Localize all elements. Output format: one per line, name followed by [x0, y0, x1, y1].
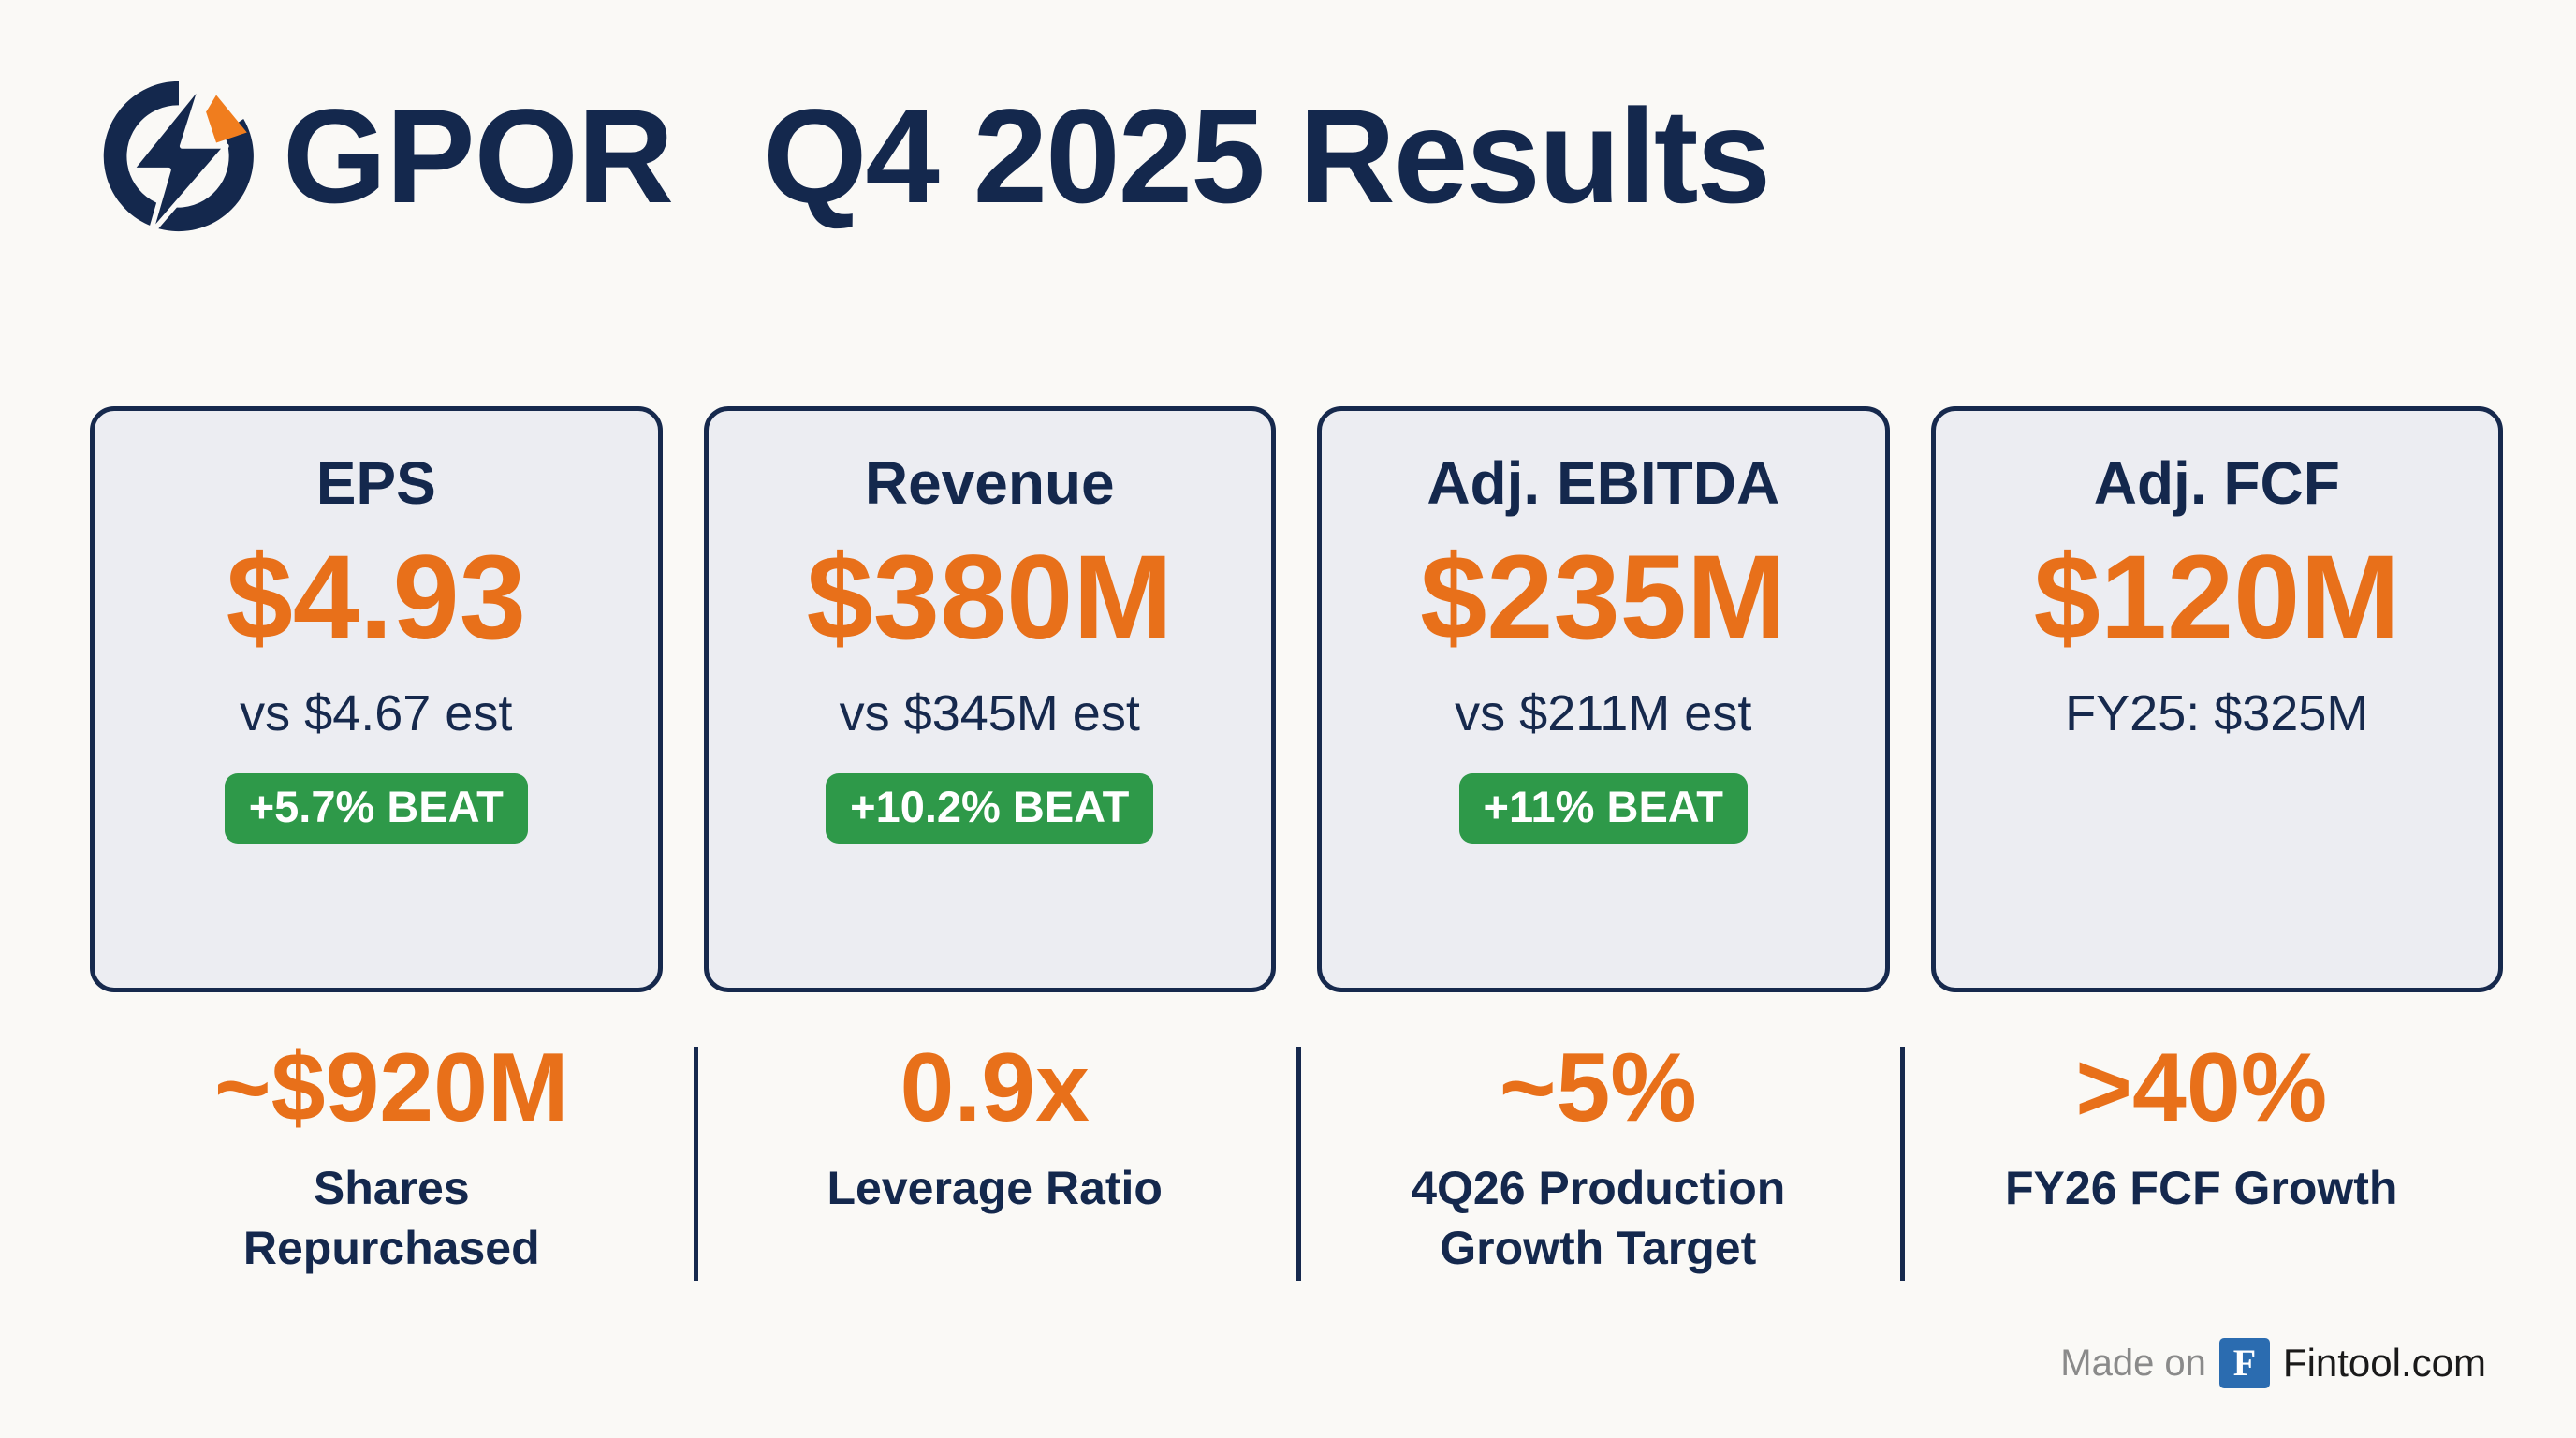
metric-card-revenue: Revenue $380M vs $345M est +10.2% BEAT — [704, 406, 1277, 992]
stat-leverage-ratio: 0.9x Leverage Ratio — [694, 1037, 1297, 1278]
stat-label-line1: FY26 FCF Growth — [2005, 1162, 2397, 1214]
metric-card-title: Adj. EBITDA — [1427, 452, 1779, 515]
footer-made-on-text: Made on — [2060, 1344, 2206, 1382]
metric-card-title: Revenue — [865, 452, 1115, 515]
metric-card-value: $120M — [2034, 536, 2400, 661]
stat-label: Leverage Ratio — [827, 1158, 1163, 1218]
stat-fcf-growth: >40% FY26 FCF Growth — [1900, 1037, 2504, 1278]
stat-shares-repurchased: ~$920M Shares Repurchased — [90, 1037, 694, 1278]
metric-card-adj-fcf: Adj. FCF $120M FY25: $325M — [1931, 406, 2504, 992]
stat-label-line1: 4Q26 Production — [1411, 1162, 1785, 1214]
infographic-canvas: GPOR Q4 2025 Results EPS $4.93 vs $4.67 … — [0, 0, 2576, 1438]
beat-badge: +10.2% BEAT — [826, 773, 1153, 844]
beat-badge: +11% BEAT — [1459, 773, 1748, 844]
stat-label-line2: Growth Target — [1440, 1222, 1756, 1274]
stat-value: >40% — [2075, 1037, 2327, 1139]
metric-card-title: EPS — [316, 452, 436, 515]
stat-label: 4Q26 Production Growth Target — [1411, 1158, 1785, 1278]
metric-card-value: $380M — [807, 536, 1173, 661]
header: GPOR Q4 2025 Results — [94, 67, 1769, 245]
metric-card-subtext: vs $211M est — [1455, 686, 1751, 741]
stat-label-line1: Leverage Ratio — [827, 1162, 1163, 1214]
metric-card-subtext: vs $345M est — [840, 686, 1140, 741]
stat-label-line1: Shares — [314, 1162, 470, 1214]
footer-attribution: Made on F Fintool.com — [2060, 1337, 2486, 1389]
brand-ticker: GPOR — [283, 90, 673, 224]
stat-label: FY26 FCF Growth — [2005, 1158, 2397, 1218]
stat-value: ~5% — [1500, 1037, 1697, 1139]
stat-production-growth-target: ~5% 4Q26 Production Growth Target — [1296, 1037, 1900, 1278]
fintool-logo-icon: F — [2219, 1338, 2270, 1388]
metric-cards-row: EPS $4.93 vs $4.67 est +5.7% BEAT Revenu… — [90, 406, 2503, 992]
gpor-lightning-circle-logo-icon — [94, 71, 264, 242]
metric-card-value: $4.93 — [227, 536, 526, 661]
metric-card-subtext: FY25: $325M — [2065, 686, 2368, 741]
stat-label-line2: Repurchased — [243, 1222, 540, 1274]
metric-card-adj-ebitda: Adj. EBITDA $235M vs $211M est +11% BEAT — [1317, 406, 1890, 992]
footer-site-name: Fintool.com — [2283, 1343, 2486, 1383]
stat-label: Shares Repurchased — [243, 1158, 540, 1278]
metric-card-value: $235M — [1420, 536, 1786, 661]
metric-card-subtext: vs $4.67 est — [240, 686, 512, 741]
metric-card-title: Adj. FCF — [2094, 452, 2340, 515]
stat-value: ~$920M — [214, 1037, 569, 1139]
bottom-stats-row: ~$920M Shares Repurchased 0.9x Leverage … — [90, 1037, 2503, 1278]
stat-value: 0.9x — [900, 1037, 1090, 1139]
page-title: Q4 2025 Results — [763, 90, 1769, 224]
beat-badge: +5.7% BEAT — [225, 773, 528, 844]
metric-card-eps: EPS $4.93 vs $4.67 est +5.7% BEAT — [90, 406, 663, 992]
